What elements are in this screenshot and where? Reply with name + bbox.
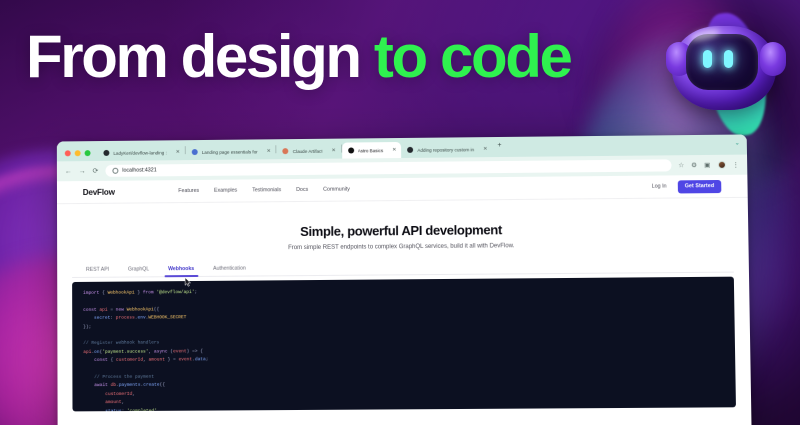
- tab-close-icon[interactable]: ✕: [267, 148, 271, 154]
- tab-close-icon[interactable]: ✕: [483, 146, 487, 152]
- mascot-ear-right: [760, 42, 786, 76]
- nav-item-features[interactable]: Features: [178, 188, 199, 194]
- get-started-button[interactable]: Get Started: [678, 179, 722, 192]
- login-link[interactable]: Log In: [652, 184, 667, 190]
- forward-icon[interactable]: →: [79, 168, 86, 175]
- tab-label: Claude Artifact: [293, 148, 323, 153]
- tab-label: Astro Basics: [358, 148, 384, 153]
- mascot-eye-right: [724, 50, 733, 68]
- url-text: localhost:4321: [122, 167, 157, 173]
- site-info-icon[interactable]: [112, 168, 118, 174]
- tab-rest-api[interactable]: REST API: [86, 267, 109, 277]
- tab-webhooks[interactable]: Webhooks: [168, 266, 194, 276]
- nav-item-testimonials[interactable]: Testimonials: [252, 187, 281, 193]
- headline-accent-text: to code: [374, 23, 571, 90]
- nav-links: Features Examples Testimonials Docs Comm…: [178, 187, 350, 195]
- minimize-window-icon[interactable]: [75, 150, 81, 156]
- brand-logo[interactable]: DevFlow: [83, 187, 115, 196]
- window-traffic-lights[interactable]: [63, 150, 98, 161]
- code-block: import { WebhookApi } from '@devflow/api…: [72, 277, 736, 412]
- tab-close-icon[interactable]: ✕: [332, 148, 336, 154]
- avatar[interactable]: [717, 161, 725, 169]
- hero-subtitle: From simple REST endpoints to complex Gr…: [57, 241, 748, 253]
- nav-item-docs[interactable]: Docs: [296, 187, 308, 193]
- code-showcase: REST API GraphQL Webhooks Authentication…: [72, 261, 736, 411]
- tab-authentication[interactable]: Authentication: [213, 266, 246, 276]
- tab-graphql[interactable]: GraphQL: [128, 266, 149, 276]
- nav-item-community[interactable]: Community: [323, 187, 350, 193]
- maximize-window-icon[interactable]: [85, 150, 91, 156]
- browser-tab-4[interactable]: Adding repository custom in ✕: [401, 141, 492, 158]
- browser-tab-0[interactable]: LadyKeri/devflow-landing : ✕: [97, 144, 184, 161]
- tab-label: Adding repository custom in: [417, 147, 474, 153]
- mascot-visor: [686, 34, 758, 90]
- browser-menu-icon[interactable]: ⋮: [732, 161, 739, 169]
- doc-icon: [192, 149, 198, 155]
- claude-icon: [283, 148, 289, 154]
- mascot-eye-left: [703, 50, 712, 68]
- close-window-icon[interactable]: [65, 150, 71, 156]
- tab-label: LadyKeri/devflow-landing :: [113, 150, 166, 156]
- code-content: import { WebhookApi } from '@devflow/api…: [83, 285, 725, 412]
- page-title: Simple, powerful API development: [57, 220, 748, 241]
- poster-headline: From design to code: [26, 27, 570, 87]
- tab-close-icon[interactable]: ✕: [176, 149, 180, 155]
- extensions-icon[interactable]: ⚙: [691, 161, 697, 169]
- address-bar[interactable]: localhost:4321: [105, 159, 671, 177]
- tab-close-icon[interactable]: ✕: [392, 147, 396, 153]
- side-panel-icon[interactable]: ▣: [704, 161, 710, 169]
- reload-icon[interactable]: ⟳: [93, 167, 99, 174]
- browser-tab-1[interactable]: Landing page essentials for ✕: [186, 143, 276, 160]
- browser-tab-2[interactable]: Claude Artifact ✕: [277, 143, 341, 160]
- astro-icon: [348, 147, 354, 153]
- web-page-content: DevFlow Features Examples Testimonials D…: [57, 175, 752, 425]
- bookmark-star-icon[interactable]: ☆: [678, 161, 684, 169]
- browser-tab-3-active[interactable]: Astro Basics ✕: [342, 142, 402, 159]
- tab-search-icon[interactable]: ⌄: [735, 139, 747, 150]
- back-icon[interactable]: ←: [65, 168, 72, 175]
- github-icon: [407, 147, 413, 153]
- browser-window: LadyKeri/devflow-landing : ✕ Landing pag…: [57, 134, 752, 425]
- new-tab-button[interactable]: +: [492, 141, 507, 152]
- hero-section: Simple, powerful API development From si…: [57, 198, 749, 253]
- tab-label: Landing page essentials for: [202, 149, 258, 155]
- code-tab-list: REST API GraphQL Webhooks Authentication: [72, 261, 734, 278]
- headline-white-text: From design: [26, 23, 374, 90]
- astro-mascot-icon: [664, 8, 796, 136]
- nav-item-examples[interactable]: Examples: [214, 188, 237, 194]
- nav-actions: Log In Get Started: [652, 179, 722, 193]
- github-icon: [103, 150, 109, 156]
